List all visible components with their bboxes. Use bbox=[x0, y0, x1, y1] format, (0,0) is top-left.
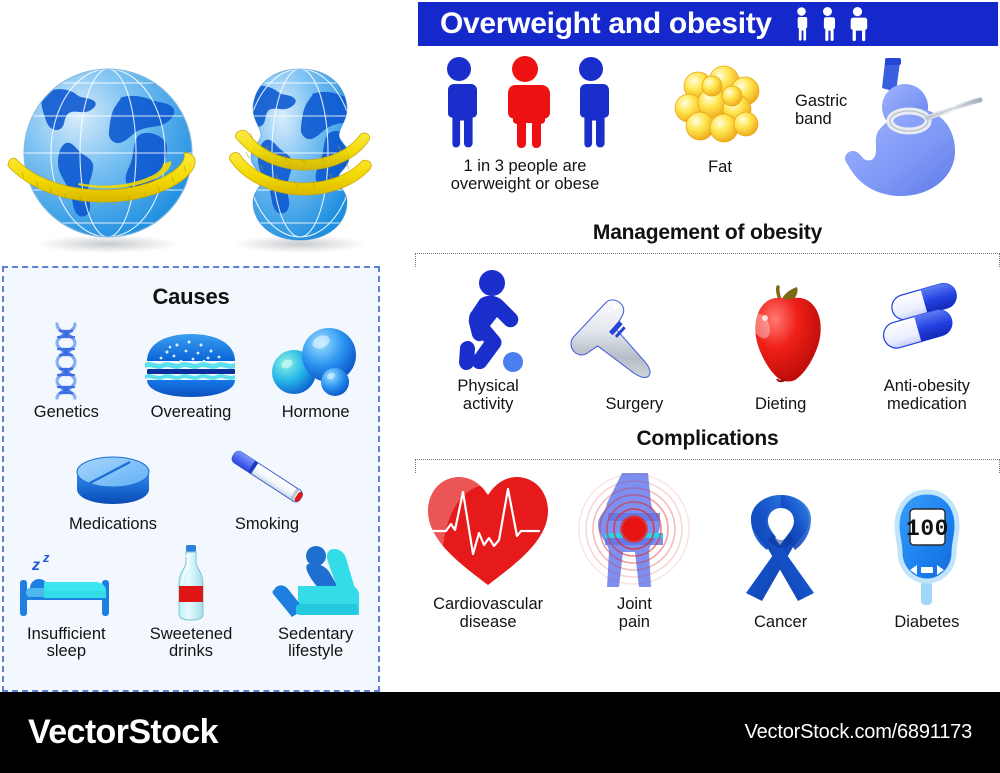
management-section: Management of obesity bbox=[415, 221, 1000, 413]
infographic-root: Overweight and obesity bbox=[0, 0, 1000, 773]
cause-label: Smoking bbox=[235, 516, 299, 534]
complication-label: Cancer bbox=[754, 613, 807, 631]
cause-label: Hormone bbox=[282, 404, 350, 422]
complication-item-diabetes[interactable]: 100 Diabetes bbox=[858, 485, 996, 631]
dna-helix-icon bbox=[44, 322, 88, 400]
heart-ecg-icon bbox=[422, 467, 554, 589]
management-title: Management of obesity bbox=[415, 221, 1000, 245]
stat-one-in-three: 1 in 3 people are overweight or obese bbox=[425, 56, 625, 193]
cause-label: Genetics bbox=[34, 404, 99, 422]
right-column: 1 in 3 people are overweight or obese bbox=[415, 52, 1000, 632]
globes-hero bbox=[0, 48, 410, 263]
cause-item-sweetened-drinks[interactable]: Sweetened drinks bbox=[132, 544, 250, 662]
person-medium-icon bbox=[818, 7, 837, 41]
recliner-armchair-icon bbox=[268, 544, 364, 622]
management-label: Anti-obesity medication bbox=[884, 377, 970, 413]
complication-item-joint-pain[interactable]: Joint pain bbox=[565, 467, 703, 631]
management-items: Physical activity bbox=[415, 259, 1000, 413]
person-blue-icon bbox=[438, 56, 480, 148]
scalpel-icon bbox=[574, 277, 694, 389]
obese-globe-with-measuring-tape-icon bbox=[229, 69, 371, 240]
causes-row-1: Genetics bbox=[4, 322, 378, 422]
cause-item-smoking[interactable]: Smoking bbox=[208, 434, 326, 534]
person-slim-icon bbox=[794, 7, 809, 41]
cause-item-genetics[interactable]: Genetics bbox=[7, 322, 125, 422]
cause-label: Overeating bbox=[151, 404, 232, 422]
header-figure-icons bbox=[794, 7, 869, 41]
causes-title: Causes bbox=[4, 284, 378, 310]
person-blue-icon bbox=[570, 56, 612, 148]
management-item-physical-activity[interactable]: Physical activity bbox=[419, 259, 557, 413]
causes-row-2: Medications bbox=[4, 434, 378, 534]
cause-label: Medications bbox=[69, 516, 157, 534]
joint-pain-icon bbox=[572, 467, 696, 589]
stomach-gastric-band-icon bbox=[793, 52, 998, 202]
burger-icon bbox=[141, 322, 241, 400]
management-box-border bbox=[415, 253, 1000, 267]
vectorstock-url: VectorStock.com/6891173 bbox=[745, 721, 972, 744]
cigarette-icon bbox=[219, 434, 315, 512]
page-title-bar: Overweight and obesity bbox=[418, 2, 998, 46]
fat-cells-icon bbox=[672, 62, 768, 148]
cause-item-hormone[interactable]: Hormone bbox=[257, 322, 375, 422]
cause-item-overeating[interactable]: Overeating bbox=[132, 322, 250, 422]
cause-label: Sweetened drinks bbox=[150, 626, 233, 662]
complications-box-border bbox=[415, 459, 1000, 473]
complication-label: Cardiovascular disease bbox=[433, 595, 543, 631]
svg-text:z: z bbox=[42, 550, 50, 565]
svg-text:z: z bbox=[31, 557, 40, 574]
stat-fat: Fat bbox=[655, 62, 785, 177]
one-in-three-caption: 1 in 3 people are overweight or obese bbox=[451, 157, 600, 193]
complication-label: Joint pain bbox=[617, 595, 652, 631]
hormone-spheres-icon bbox=[273, 322, 359, 400]
management-label: Surgery bbox=[605, 395, 663, 413]
red-apple-icon bbox=[731, 277, 831, 389]
causes-row-3: z z Insufficient sleep bbox=[4, 544, 378, 662]
soda-bottle-icon bbox=[171, 544, 211, 622]
fat-label: Fat bbox=[708, 158, 732, 177]
bed-sleep-icon: z z bbox=[12, 544, 120, 622]
glucose-reading: 100 bbox=[906, 516, 949, 542]
person-large-icon bbox=[846, 7, 869, 41]
cause-item-medications[interactable]: Medications bbox=[54, 434, 172, 534]
complications-section: Complications Cardiovascular disease bbox=[415, 427, 1000, 631]
complication-item-cardiovascular-disease[interactable]: Cardiovascular disease bbox=[419, 467, 557, 631]
vectorstock-brand: VectorStock bbox=[28, 713, 218, 752]
cause-item-insufficient-sleep[interactable]: z z Insufficient sleep bbox=[7, 544, 125, 662]
person-red-obese-icon bbox=[498, 56, 552, 148]
awareness-ribbon-icon bbox=[727, 485, 835, 607]
stat-gastric-band: Gastric band bbox=[793, 52, 998, 202]
people-ratio-icons bbox=[438, 56, 612, 148]
complications-items: Cardiovascular disease bbox=[415, 467, 1000, 631]
management-item-anti-obesity-medication[interactable]: Anti-obesity medication bbox=[858, 259, 996, 413]
complication-label: Diabetes bbox=[894, 613, 959, 631]
cause-item-sedentary-lifestyle[interactable]: Sedentary lifestyle bbox=[257, 544, 375, 662]
globe-with-measuring-tape-icon bbox=[8, 66, 195, 237]
management-item-surgery[interactable]: Surgery bbox=[565, 277, 703, 413]
complication-item-cancer[interactable]: Cancer bbox=[712, 485, 850, 631]
page-title: Overweight and obesity bbox=[440, 7, 772, 41]
pill-tablet-icon bbox=[72, 434, 154, 512]
complications-title: Complications bbox=[415, 427, 1000, 451]
management-label: Dieting bbox=[755, 395, 806, 413]
cause-label: Sedentary lifestyle bbox=[278, 626, 353, 662]
management-label: Physical activity bbox=[457, 377, 518, 413]
glucose-meter-icon: 100 bbox=[877, 485, 977, 607]
running-person-icon bbox=[440, 259, 536, 371]
watermark-footer: VectorStock VectorStock.com/6891173 bbox=[0, 692, 1000, 773]
stats-row: 1 in 3 people are overweight or obese bbox=[415, 52, 1000, 217]
capsules-icon bbox=[872, 259, 982, 371]
cause-label: Insufficient sleep bbox=[27, 626, 106, 662]
causes-panel: Causes bbox=[2, 266, 380, 692]
management-item-dieting[interactable]: Dieting bbox=[712, 277, 850, 413]
